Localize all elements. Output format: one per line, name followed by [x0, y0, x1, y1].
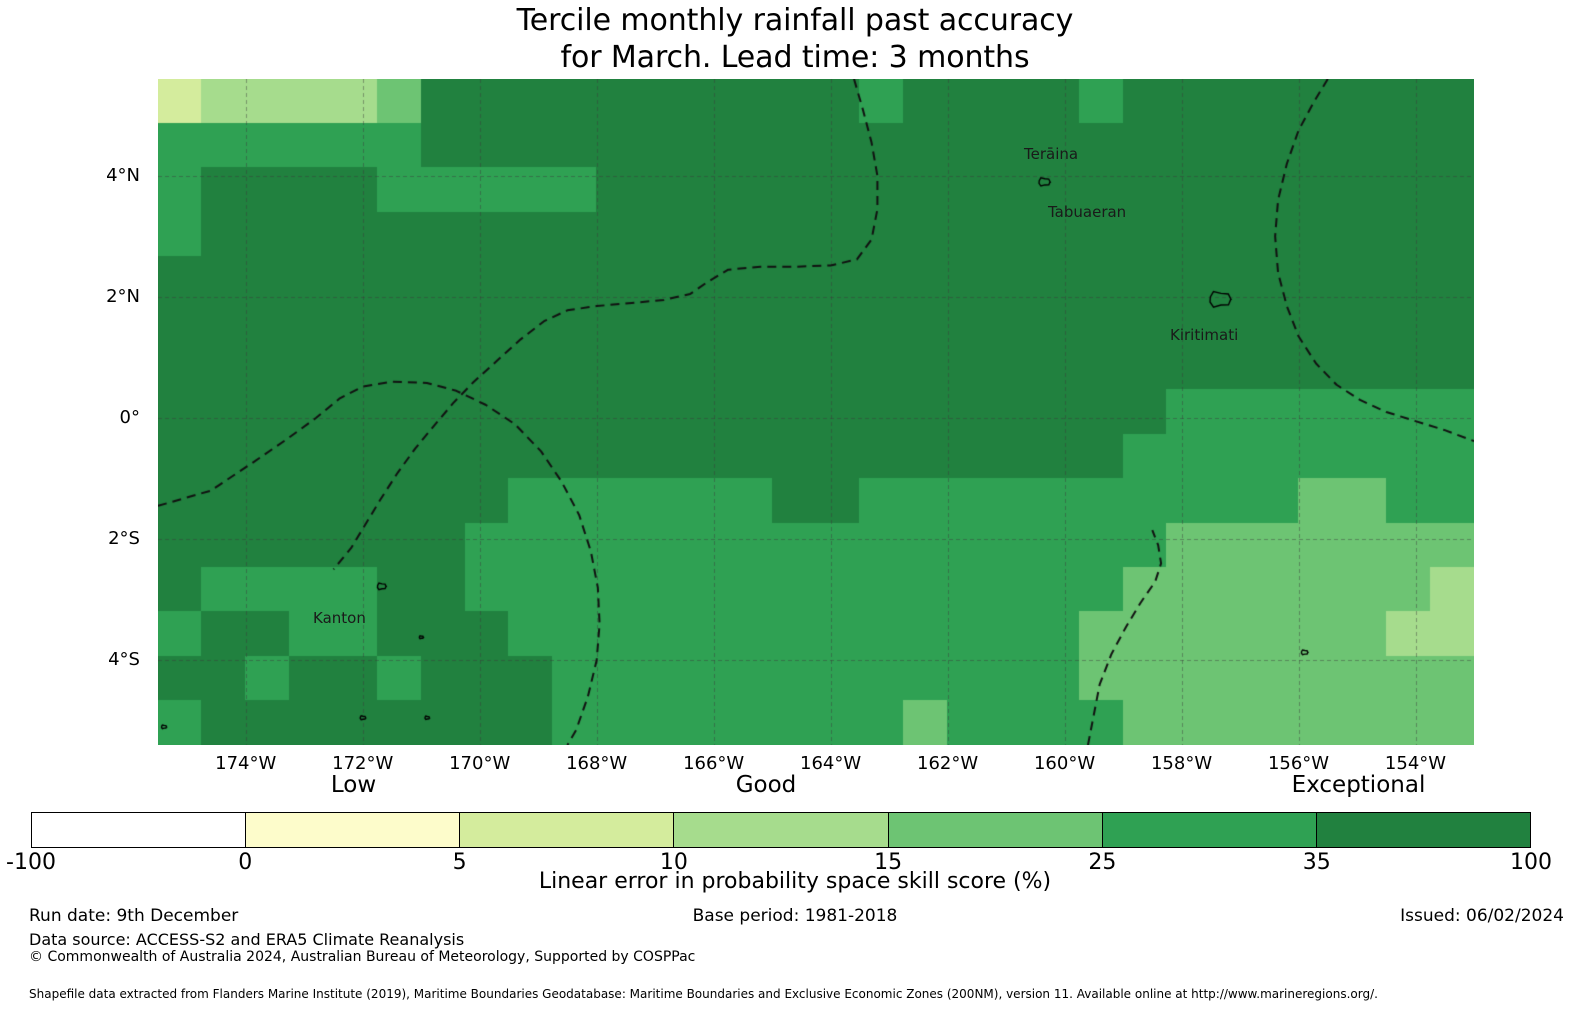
colorbar-segment — [888, 813, 1102, 847]
colorbar-segment — [459, 813, 673, 847]
longitude-tick-label: 172°W — [303, 755, 423, 773]
island-label: Terāina — [1024, 147, 1078, 162]
footer-shapefile-attribution: Shapefile data extracted from Flanders M… — [29, 986, 1378, 1002]
footer-copyright: © Commonwealth of Australia 2024, Austra… — [29, 948, 695, 966]
footer-data-source: Data source: ACCESS-S2 and ERA5 Climate … — [29, 930, 464, 950]
island-label: Tabuaeran — [1048, 205, 1126, 220]
latitude-tick-label: 4°N — [0, 167, 140, 185]
colorbar-segment — [1102, 813, 1316, 847]
footer-base-period: Base period: 1981-2018 — [0, 906, 1590, 927]
colorbar-axis-title: Linear error in probability space skill … — [0, 869, 1590, 895]
longitude-tick-label: 168°W — [537, 755, 657, 773]
colorbar-segment — [673, 813, 887, 847]
longitude-tick-label: 162°W — [888, 755, 1008, 773]
longitude-tick-label: 170°W — [420, 755, 540, 773]
longitude-tick-label: 164°W — [771, 755, 891, 773]
colorbar-category-label: Good — [636, 773, 896, 798]
colorbar-category-label: Low — [224, 773, 484, 798]
latitude-tick-label: 2°S — [0, 530, 140, 548]
page-title: Tercile monthly rainfall past accuracy f… — [0, 0, 1590, 76]
skill-score-heatmap — [158, 79, 1474, 745]
island-label: Kiritimati — [1170, 328, 1238, 343]
longitude-tick-label: 154°W — [1356, 755, 1476, 773]
map-plot-area — [158, 79, 1474, 745]
colorbar-segment — [1316, 813, 1530, 847]
longitude-tick-label: 166°W — [654, 755, 774, 773]
colorbar — [31, 812, 1531, 848]
longitude-tick-label: 160°W — [1005, 755, 1125, 773]
colorbar-segment — [245, 813, 459, 847]
latitude-tick-label: 4°S — [0, 651, 140, 669]
colorbar-segment — [32, 813, 245, 847]
longitude-tick-label: 156°W — [1239, 755, 1359, 773]
colorbar-category-label: Exceptional — [1229, 773, 1489, 798]
latitude-tick-label: 2°N — [0, 288, 140, 306]
longitude-tick-label: 174°W — [186, 755, 306, 773]
island-label: Kanton — [313, 611, 366, 626]
latitude-tick-label: 0° — [0, 409, 140, 427]
longitude-tick-label: 158°W — [1122, 755, 1242, 773]
footer-issued-date: Issued: 06/02/2024 — [1400, 906, 1564, 927]
